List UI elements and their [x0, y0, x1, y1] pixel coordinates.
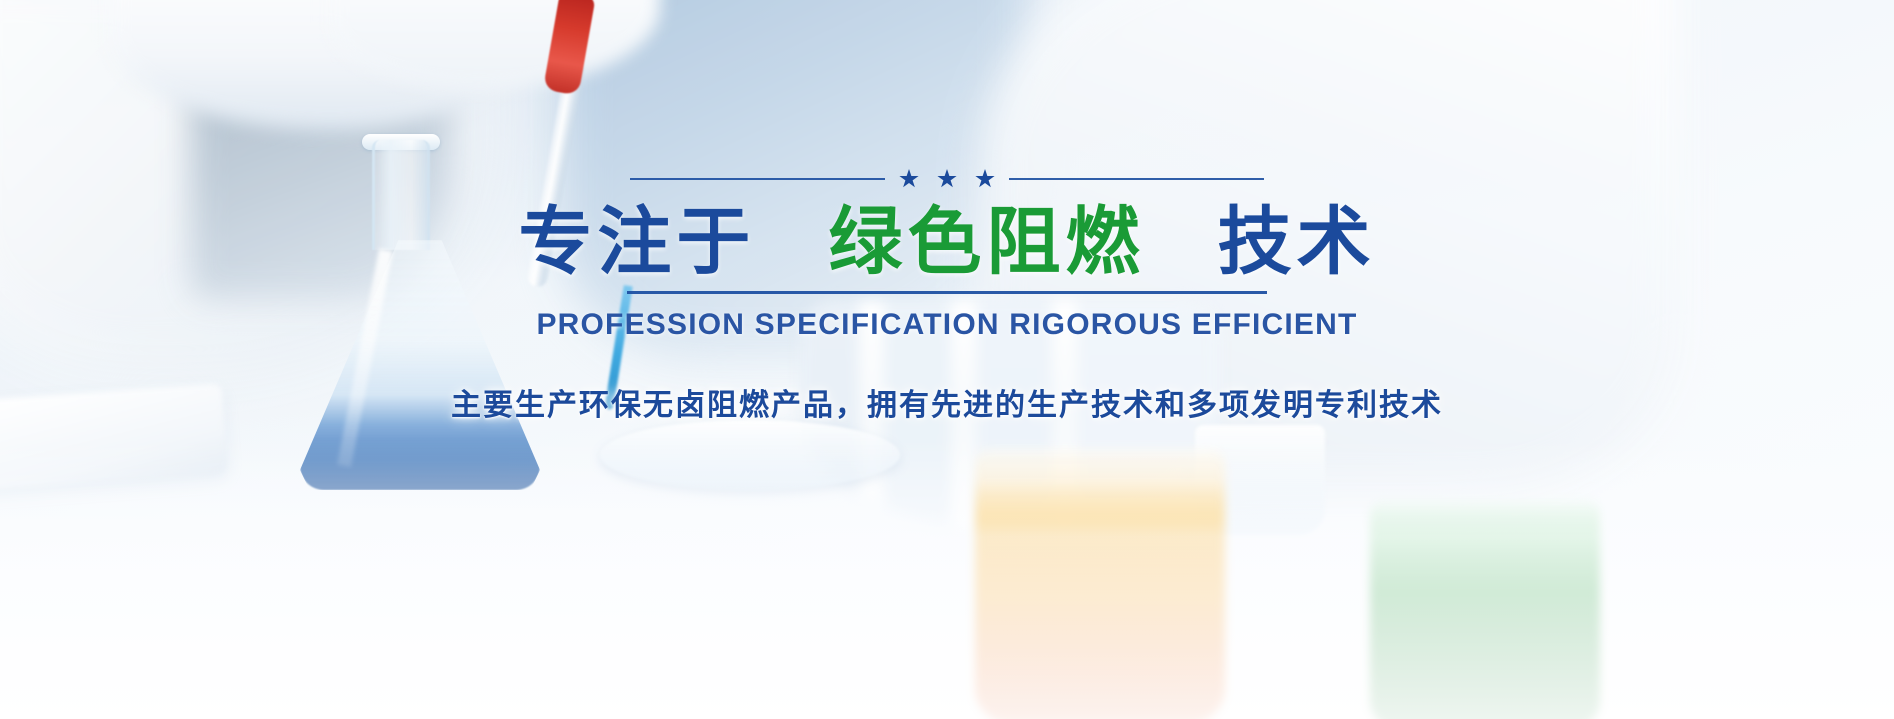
star-icon [899, 169, 919, 189]
banner-content: 专注于 绿色阻燃 技术 PROFESSION SPECIFICATION RIG… [0, 168, 1894, 424]
divider-line-right [1009, 178, 1264, 180]
headline-part-3: 技术 [1218, 200, 1376, 283]
decorative-rule-row [0, 168, 1894, 190]
subtitle-english: PROFESSION SPECIFICATION RIGOROUS EFFICI… [0, 308, 1894, 342]
headline-part-1: 专注于 [518, 200, 755, 283]
hero-banner: 专注于 绿色阻燃 技术 PROFESSION SPECIFICATION RIG… [0, 0, 1894, 719]
star-group [899, 169, 995, 189]
desk-surface [0, 439, 1894, 719]
headline-part-2: 绿色阻燃 [829, 200, 1145, 283]
description-chinese: 主要生产环保无卤阻燃产品，拥有先进的生产技术和多项发明专利技术 [0, 380, 1894, 424]
headline-underline [627, 291, 1267, 294]
star-icon [975, 169, 995, 189]
divider-line-left [630, 178, 885, 180]
headline: 专注于 绿色阻燃 技术 [0, 204, 1894, 281]
star-icon [937, 169, 957, 189]
